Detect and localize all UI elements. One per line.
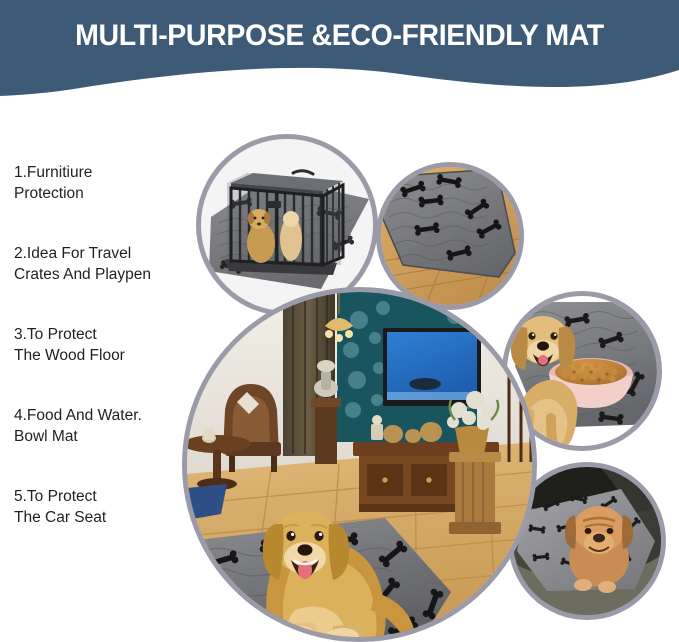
- header-wave-shape: [0, 0, 679, 108]
- page-title: MULTI-PURPOSE &ECO-FRIENDLY MAT: [17, 18, 662, 54]
- feature-item-bowl-mat: 4.Food And Water. Bowl Mat: [14, 405, 204, 447]
- photo-dog-on-mat-in-living-room: [182, 287, 537, 642]
- feature-item-wood-floor: 3.To Protect The Wood Floor: [14, 324, 204, 366]
- feature-item-car-seat: 5.To Protect The Car Seat: [14, 486, 204, 528]
- photo-mat-on-wood-floor: [376, 162, 524, 310]
- feature-item-furniture-protection: 1.Furnitiure Protection: [14, 162, 204, 204]
- feature-item-travel-crates: 2.Idea For Travel Crates And Playpen: [14, 243, 204, 285]
- feature-list: 1.Furnitiure Protection 2.Idea For Trave…: [14, 162, 204, 528]
- infographic-page: MULTI-PURPOSE &ECO-FRIENDLY MAT 1.Furnit…: [0, 0, 679, 642]
- header-banner: MULTI-PURPOSE &ECO-FRIENDLY MAT: [0, 0, 679, 108]
